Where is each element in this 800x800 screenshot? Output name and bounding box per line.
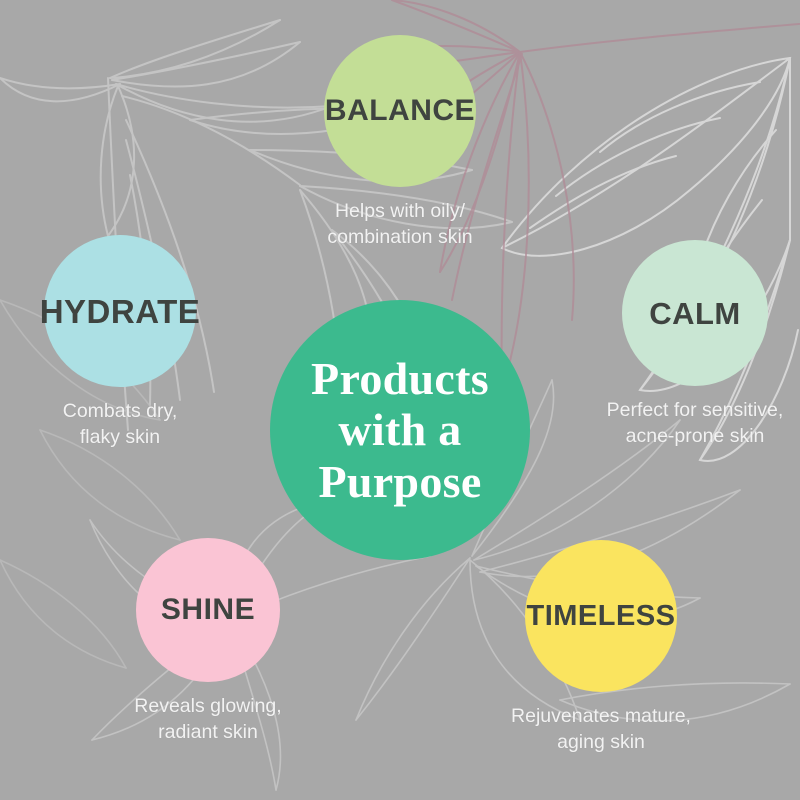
node-balance[interactable]: BALANCE Helps with oily/ combination ski…	[320, 35, 480, 250]
bubble-label-hydrate: HYDRATE	[40, 295, 201, 328]
bubble-hydrate[interactable]: HYDRATE	[44, 235, 196, 387]
bubble-shine[interactable]: SHINE	[136, 538, 280, 682]
node-shine[interactable]: SHINE Reveals glowing, radiant skin	[124, 538, 292, 745]
node-timeless[interactable]: TIMELESS Rejuvenates mature, aging skin	[508, 540, 694, 755]
bubble-label-calm: CALM	[649, 298, 741, 329]
node-calm[interactable]: CALM Perfect for sensitive, acne-prone s…	[600, 240, 790, 449]
bubble-calm[interactable]: CALM	[622, 240, 768, 386]
center-hub[interactable]: Products with a Purpose	[270, 300, 530, 560]
caption-hydrate: Combats dry, flaky skin	[63, 399, 178, 450]
infographic-canvas: BALANCE Helps with oily/ combination ski…	[0, 0, 800, 800]
caption-timeless: Rejuvenates mature, aging skin	[511, 704, 691, 755]
caption-shine: Reveals glowing, radiant skin	[134, 694, 281, 745]
node-hydrate[interactable]: HYDRATE Combats dry, flaky skin	[32, 235, 208, 450]
bubble-balance[interactable]: BALANCE	[324, 35, 476, 187]
caption-calm: Perfect for sensitive, acne-prone skin	[607, 398, 784, 449]
bubble-timeless[interactable]: TIMELESS	[525, 540, 677, 692]
hub-title: Products with a Purpose	[311, 353, 489, 508]
bubble-label-shine: SHINE	[161, 595, 255, 625]
caption-balance: Helps with oily/ combination skin	[327, 199, 472, 250]
bubble-label-balance: BALANCE	[325, 96, 475, 126]
bubble-label-timeless: TIMELESS	[526, 602, 675, 631]
